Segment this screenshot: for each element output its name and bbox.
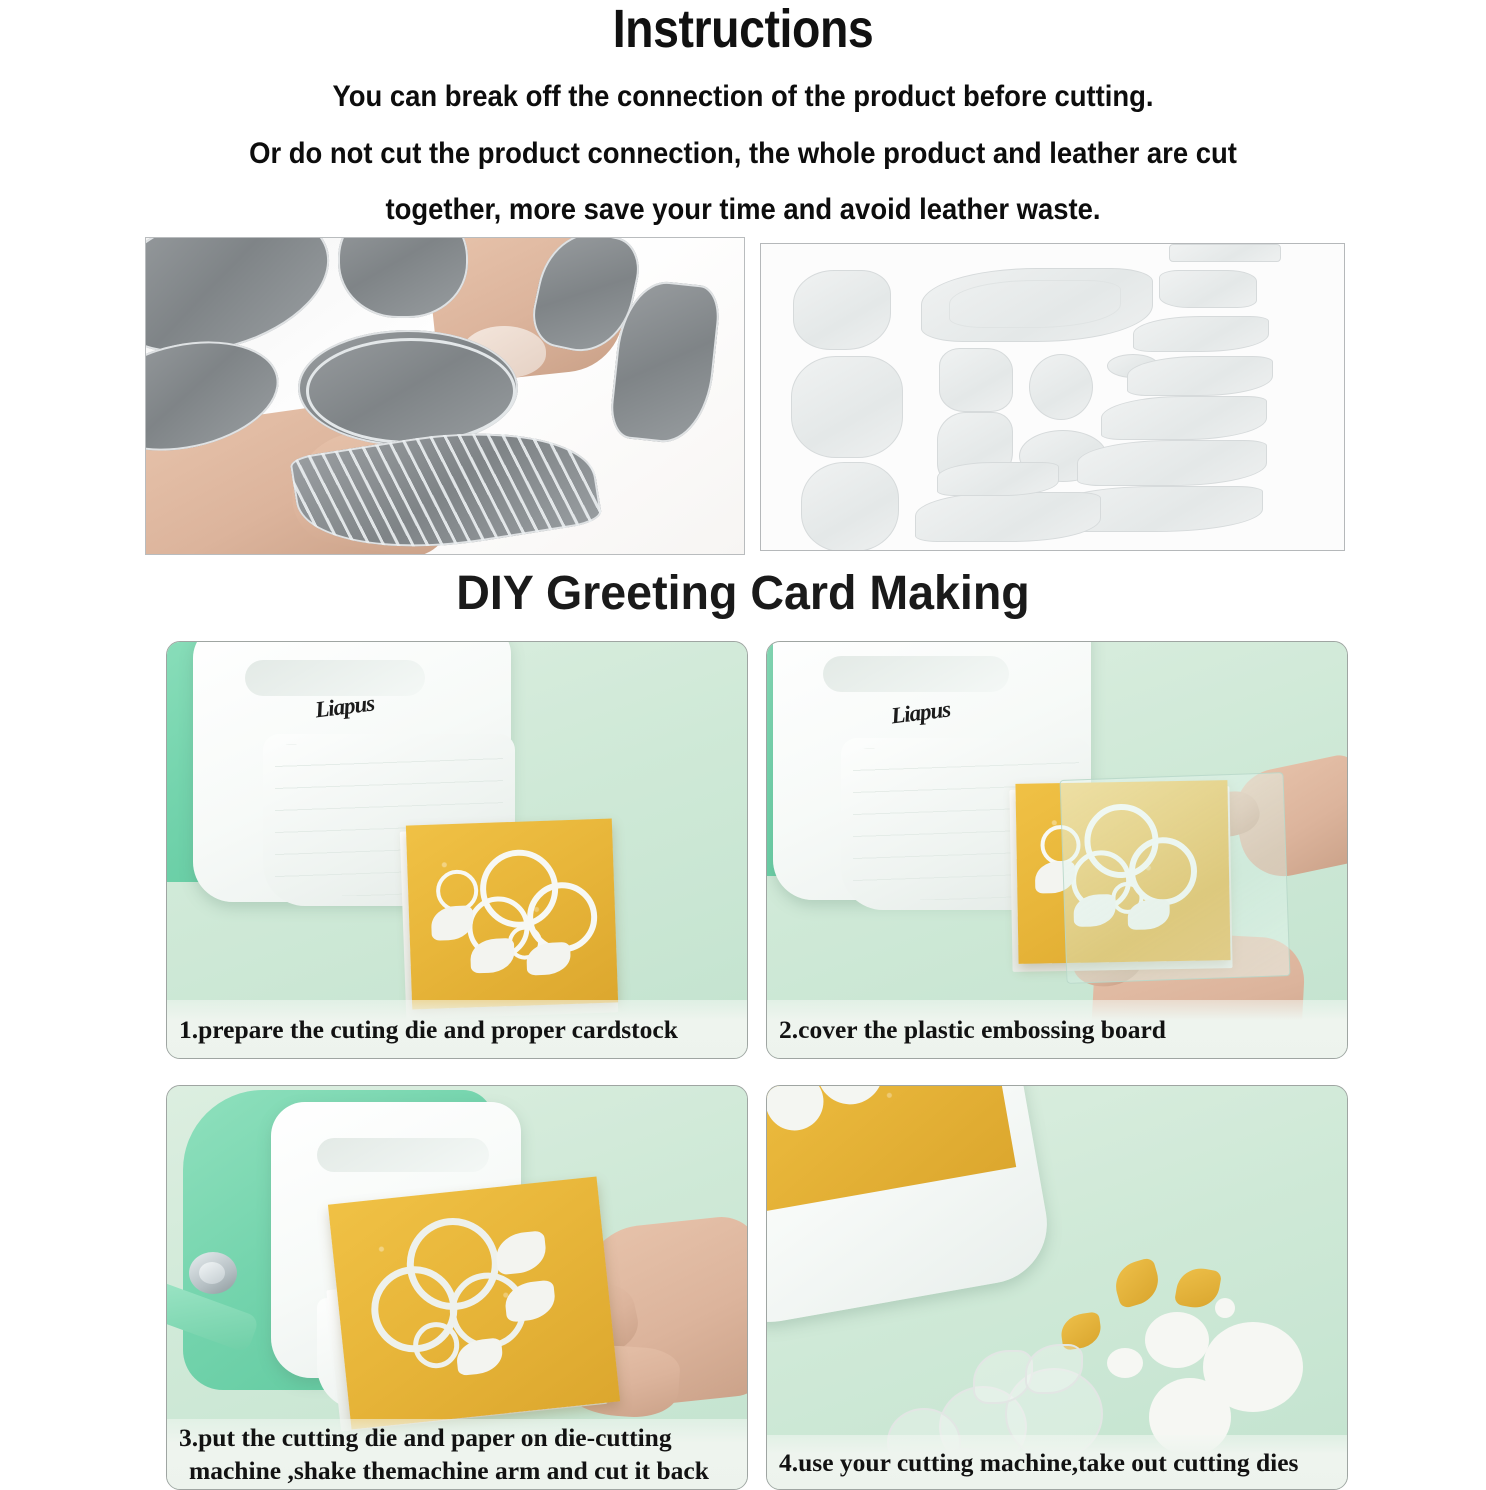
step-1-scene: Liapus <box>167 642 747 1058</box>
leaf-die-3 <box>455 1337 504 1376</box>
machine-handle-slot <box>245 660 425 696</box>
gold-leaf-1 <box>1110 1257 1164 1310</box>
step-panel-1: Liapus 1.prepare the cuting die and prop… <box>166 641 748 1059</box>
gold-flower-med-1 <box>1145 1312 1209 1368</box>
diy-steps-grid: Liapus 1.prepare the cuting die and prop… <box>0 0 1486 1486</box>
gold-cardstock <box>406 818 618 1009</box>
step-4-scene: Liapus <box>767 1086 1347 1489</box>
step-4-caption-line-1: 4.use your cutting machine,take out cutt… <box>779 1448 1298 1477</box>
leaf-die-1 <box>431 905 474 940</box>
gold-flower-tiny-1 <box>1215 1298 1235 1318</box>
machine-handle-slot <box>317 1138 489 1172</box>
step-panel-3: Liapus 3.put the cutting die and paper o… <box>166 1085 748 1490</box>
gold-cardstock <box>328 1177 620 1430</box>
gold-flower-tiny-2 <box>1107 1348 1143 1378</box>
step-3-caption: 3.put the cutting die and paper on die-c… <box>167 1419 747 1489</box>
leaf-die-1 <box>494 1230 548 1275</box>
step-1-caption: 1.prepare the cuting die and proper card… <box>167 1000 747 1058</box>
step-2-caption-line-1: 2.cover the plastic embossing board <box>779 1015 1166 1044</box>
step-4-caption: 4.use your cutting machine,take out cutt… <box>767 1435 1347 1489</box>
plastic-embossing-board <box>1060 772 1291 984</box>
cutout-flower-2 <box>766 1085 828 1135</box>
step-panel-2: Liapus 2.c <box>766 641 1348 1059</box>
step-3-caption-line-2: machine ,shake themachine arm and cut it… <box>179 1454 735 1487</box>
step-2-scene: Liapus <box>767 642 1347 1058</box>
step-3-caption-line-1: 3.put the cutting die and paper on die-c… <box>179 1421 735 1454</box>
machine-handle-slot <box>823 656 1009 692</box>
step-1-caption-line-1: 1.prepare the cuting die and proper card… <box>179 1015 678 1044</box>
step-2-caption: 2.cover the plastic embossing board <box>767 1000 1347 1058</box>
machine-crank-knob-inner <box>199 1262 225 1284</box>
step-panel-4: Liapus 4.use your cutting machine,take o… <box>766 1085 1348 1490</box>
